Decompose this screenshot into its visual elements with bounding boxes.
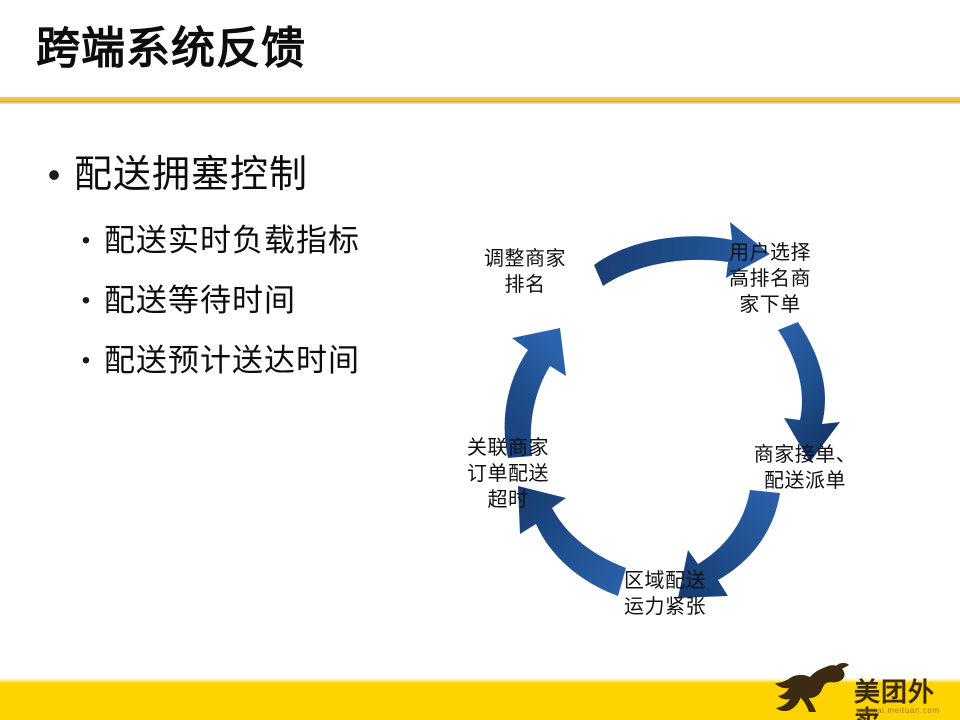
presentation-slide: 跨端系统反馈 • 配送拥塞控制 • 配送实时负载指标 • 配送等待时间 • 配送… [0,0,960,720]
cycle-node-merchant-accept: 商家接单、 配送派单 [740,442,870,494]
cycle-node-adjust-ranking: 调整商家 排名 [460,246,590,298]
bullet-sublist: • 配送实时负载指标 • 配送等待时间 • 配送预计送达时间 [68,218,454,384]
bullet-level2: • 配送预计送达时间 [68,338,454,384]
title-divider [0,97,960,104]
bullet-level1: • 配送拥塞控制 [34,148,454,202]
bullet-marker-icon: • [34,148,74,202]
bullet-marker-icon: • [68,338,104,384]
slide-header: 跨端系统反馈 [0,0,960,100]
brand-logo: 美团外卖 waimai.meituan.com [762,660,960,720]
bullet-marker-icon: • [68,218,104,264]
brand-url: waimai.meituan.com [856,706,940,716]
bullet-list: • 配送拥塞控制 • 配送实时负载指标 • 配送等待时间 • 配送预计送达时间 [34,148,454,398]
bullet-level2-text: 配送预计送达时间 [104,338,360,384]
bullet-level2: • 配送实时负载指标 [68,218,454,264]
kangaroo-icon [766,662,852,714]
cycle-node-delivery-delay: 关联商家 订单配送 超时 [443,435,573,513]
bullet-level1-text: 配送拥塞控制 [74,148,308,202]
cycle-diagram: 调整商家 排名 用户选择 高排名商 家下单 商家接单、 配送派单 区域配送 运力… [440,210,940,660]
bullet-level2-text: 配送实时负载指标 [104,218,360,264]
bullet-level2-text: 配送等待时间 [104,278,296,324]
cycle-node-user-order: 用户选择 高排名商 家下单 [710,240,830,318]
bullet-level2: • 配送等待时间 [68,278,454,324]
arrow-right-icon [778,322,840,462]
page-title: 跨端系统反馈 [36,24,306,75]
cycle-node-capacity-strain: 区域配送 运力紧张 [605,568,725,620]
bullet-marker-icon: • [68,278,104,324]
